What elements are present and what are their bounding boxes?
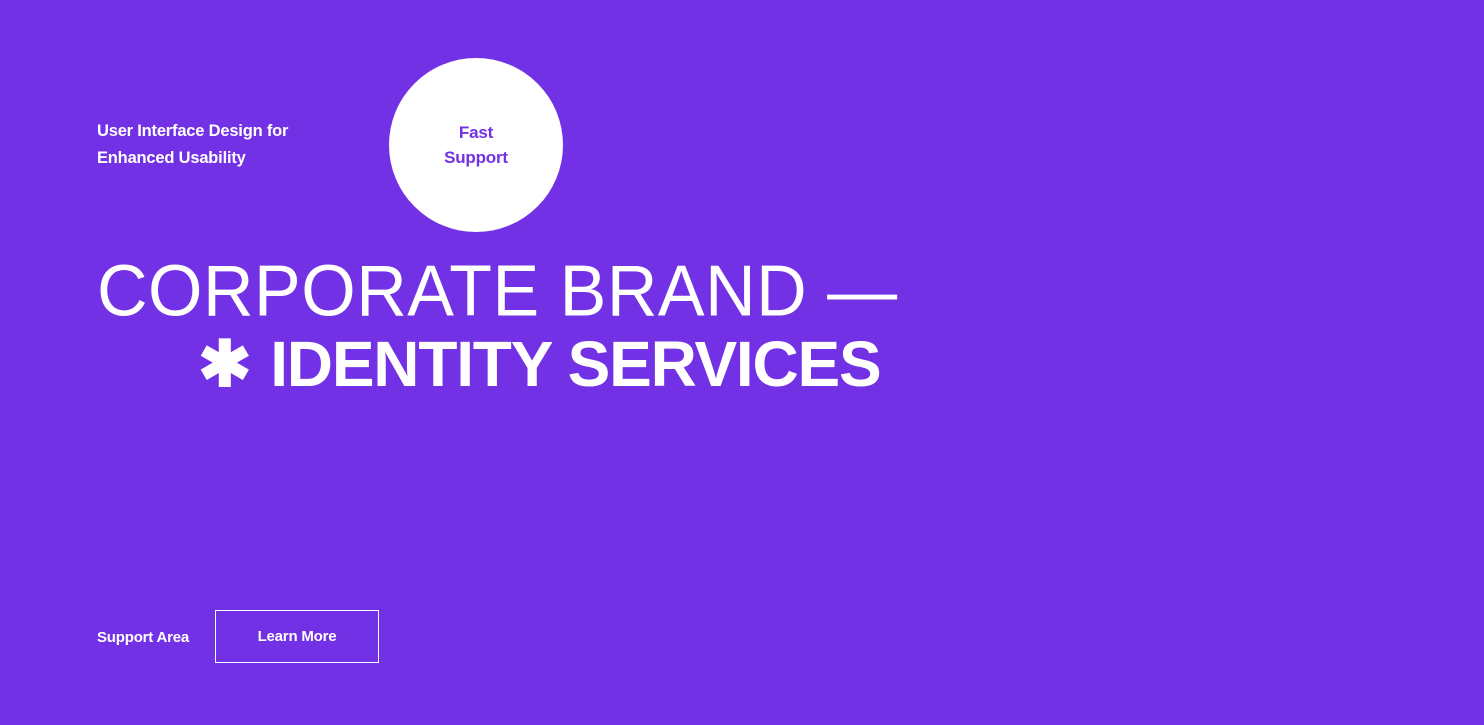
learn-more-button[interactable]: Learn More [215, 610, 379, 663]
support-area-link[interactable]: Support Area [97, 610, 189, 664]
asterisk-icon: ✱ [198, 328, 254, 400]
fast-support-badge[interactable]: Fast Support [389, 58, 563, 232]
hero-tagline-line-1: User Interface Design for [97, 118, 382, 145]
headline-line-1: CORPORATE BRAND — [97, 252, 1197, 329]
headline-line-2: ✱ IDENTITY SERVICES [97, 328, 1197, 400]
hero-tagline-line-2: Enhanced Usability [97, 145, 382, 172]
headline-line-2-text: IDENTITY SERVICES [270, 328, 880, 400]
hero-tagline: User Interface Design for Enhanced Usabi… [97, 118, 382, 172]
fast-support-badge-text: Fast Support [444, 120, 508, 170]
page-title: CORPORATE BRAND — ✱ IDENTITY SERVICES [97, 252, 1197, 400]
fast-support-badge-line-2: Support [444, 145, 508, 170]
hero-section: User Interface Design for Enhanced Usabi… [0, 0, 1484, 725]
fast-support-badge-line-1: Fast [444, 120, 508, 145]
